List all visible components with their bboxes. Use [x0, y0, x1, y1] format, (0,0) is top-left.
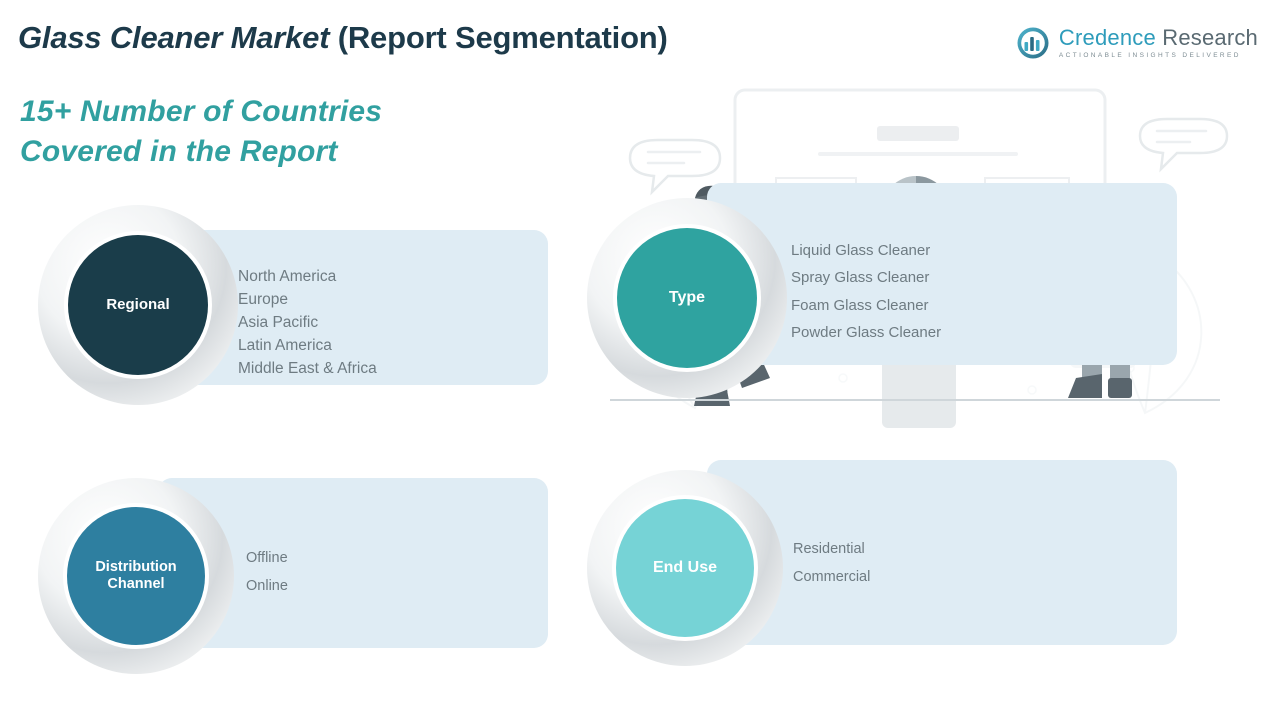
- segment-card-distribution-channel[interactable]: Distribution Channel Offline Online: [38, 478, 518, 663]
- subtitle-line-2: Covered in the Report: [20, 132, 382, 172]
- page-title: Glass Cleaner Market (Report Segmentatio…: [18, 20, 668, 56]
- list-item: Offline: [246, 545, 288, 573]
- list-item: Online: [246, 573, 288, 601]
- segment-card-type[interactable]: Type Liquid Glass Cleaner Spray Glass Cl…: [587, 180, 1177, 380]
- bar-chart-circle-icon: [1016, 26, 1050, 60]
- page-title-main: Glass Cleaner Market: [18, 20, 338, 55]
- infographic-slide: Glass Cleaner Market (Report Segmentatio…: [0, 0, 1280, 720]
- list-item: Europe: [238, 288, 377, 311]
- list-item: Foam Glass Cleaner: [791, 292, 941, 319]
- segment-item-list-type: Liquid Glass Cleaner Spray Glass Cleaner…: [791, 237, 941, 346]
- list-item: Middle East & Africa: [238, 357, 377, 380]
- segment-badge-regional[interactable]: Regional: [68, 235, 208, 375]
- page-title-paren: (Report Segmentation): [338, 20, 668, 55]
- segment-badge-distribution-channel[interactable]: Distribution Channel: [67, 507, 205, 645]
- segment-card-end-use[interactable]: End Use Residential Commercial: [587, 460, 1177, 650]
- list-item: Spray Glass Cleaner: [791, 264, 941, 291]
- segment-label-line-1: Distribution: [95, 559, 176, 575]
- segment-badge-end-use[interactable]: End Use: [616, 499, 754, 637]
- list-item: Liquid Glass Cleaner: [791, 237, 941, 264]
- brand-logo[interactable]: Credence Research Actionable Insights De…: [1016, 26, 1258, 60]
- list-item: Commercial: [793, 564, 870, 592]
- segment-badge-type[interactable]: Type: [617, 228, 757, 368]
- segment-item-list-regional: North America Europe Asia Pacific Latin …: [238, 265, 377, 380]
- segment-label: Regional: [106, 296, 169, 314]
- segment-label: End Use: [653, 559, 717, 578]
- subtitle: 15+ Number of Countries Covered in the R…: [20, 92, 382, 172]
- list-item: Powder Glass Cleaner: [791, 319, 941, 346]
- logo-name-part2: Research: [1156, 25, 1258, 50]
- segment-label: Type: [669, 289, 705, 308]
- segment-card-regional[interactable]: Regional North America Europe Asia Pacif…: [38, 205, 518, 410]
- logo-tagline: Actionable Insights Delivered: [1059, 53, 1258, 60]
- logo-name: Credence Research: [1059, 27, 1258, 49]
- logo-name-part1: Credence: [1059, 25, 1156, 50]
- list-item: Latin America: [238, 334, 377, 357]
- subtitle-line-1: 15+ Number of Countries: [20, 92, 382, 132]
- segment-item-list-distribution-channel: Offline Online: [246, 545, 288, 600]
- segment-label-line-2: Channel: [107, 576, 164, 592]
- list-item: Asia Pacific: [238, 311, 377, 334]
- segment-item-list-end-use: Residential Commercial: [793, 536, 870, 591]
- list-item: Residential: [793, 536, 870, 564]
- segment-label: Distribution Channel: [95, 559, 176, 593]
- logo-text: Credence Research Actionable Insights De…: [1059, 27, 1258, 60]
- list-item: North America: [238, 265, 377, 288]
